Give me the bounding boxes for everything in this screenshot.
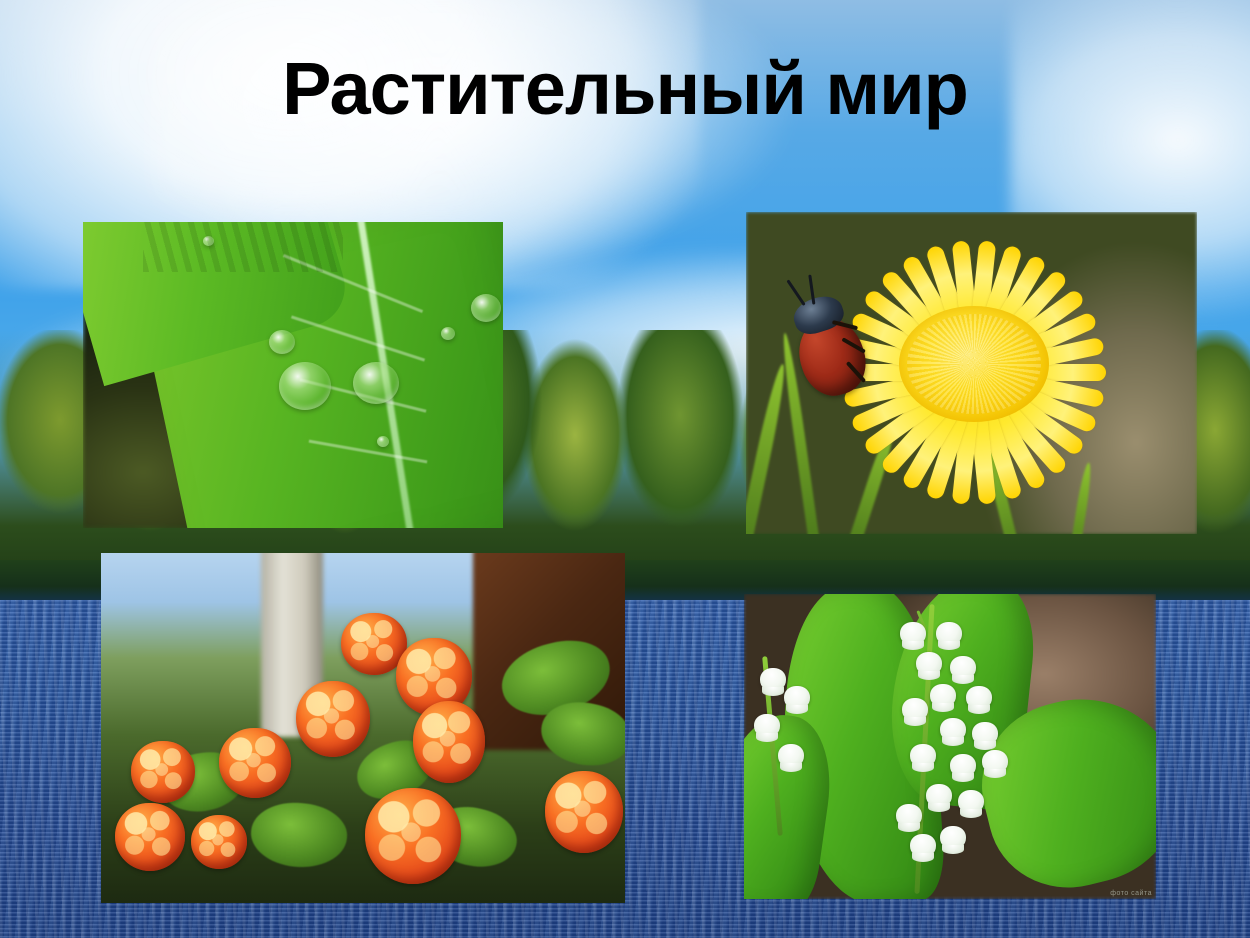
lily-flower-bell — [966, 686, 992, 710]
lily-flower-bell — [936, 622, 962, 646]
lily-flower-bell — [940, 826, 966, 850]
cloudberry — [219, 728, 291, 798]
cloudberry — [545, 771, 623, 853]
lily-flower-bell — [760, 668, 786, 692]
water-droplet — [279, 362, 331, 410]
cloudberry — [413, 701, 485, 783]
photo-cloudberries — [101, 553, 625, 903]
photo-watermark: фото сайта — [1110, 890, 1152, 897]
cloudberry — [296, 681, 370, 757]
water-droplet — [471, 294, 501, 322]
photo-green-leaf-with-dew-drops — [83, 222, 503, 528]
cloudberry — [115, 803, 185, 871]
lily-flower-bell — [972, 722, 998, 746]
page-title: Растительный мир — [0, 52, 1250, 126]
lily-flower-bell — [982, 750, 1008, 774]
water-droplet — [377, 436, 389, 447]
lily-flower-bell — [900, 622, 926, 646]
lily-flower-bell — [902, 698, 928, 722]
cloudberry — [365, 788, 461, 884]
water-droplet — [353, 362, 399, 404]
lily-flower-bell — [896, 804, 922, 828]
photo-lily-of-the-valley: фото сайта — [744, 594, 1156, 899]
lily-flower-bell — [926, 784, 952, 808]
leaf-serrated-edge — [143, 222, 343, 272]
lily-flower-bell — [784, 686, 810, 710]
lily-flower-bell — [910, 834, 936, 858]
lily-flower-bell — [950, 656, 976, 680]
cloudberry — [191, 815, 247, 869]
lily-flower-bell — [958, 790, 984, 814]
presentation-slide: Растительный мир — [0, 0, 1250, 938]
photo-dandelion-with-beetle — [746, 212, 1197, 534]
lily-flower-bell — [910, 744, 936, 768]
lily-flower-bell — [930, 684, 956, 708]
water-droplet — [441, 327, 455, 340]
lily-flower-bell — [916, 652, 942, 676]
cloudberry — [131, 741, 195, 803]
lily-flower-bell — [940, 718, 966, 742]
flower-center-disc — [899, 306, 1049, 422]
lily-flower-bell — [950, 754, 976, 778]
lily-flower-bell — [754, 714, 780, 738]
lily-flower-bell — [778, 744, 804, 768]
water-droplet — [269, 330, 295, 354]
